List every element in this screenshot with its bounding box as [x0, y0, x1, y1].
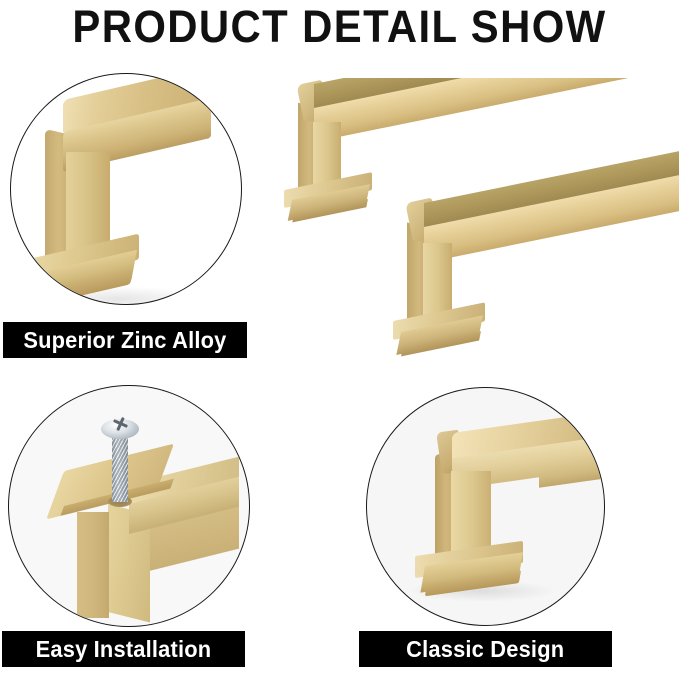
panel-product-pair-image: [276, 78, 679, 378]
panel-classic-design-image: [366, 387, 605, 626]
screw-shaft-icon: [112, 434, 128, 502]
caption-banner-classic-design: Classic Design: [359, 631, 612, 667]
caption-banner-superior-zinc-alloy: Superior Zinc Alloy: [3, 322, 247, 358]
caption-text-zinc: Superior Zinc Alloy: [23, 327, 226, 354]
zinc-alloy-handle-illustration: [11, 74, 241, 304]
page-title: PRODUCT DETAIL SHOW: [24, 0, 655, 56]
upper-pull-notch: [341, 131, 385, 160]
easy-installation-illustration: [9, 386, 249, 626]
product-detail-infographic: PRODUCT DETAIL SHOW Superior Zinc Alloy: [0, 0, 679, 675]
caption-banner-easy-installation: Easy Installation: [2, 631, 245, 667]
panel-easy-installation-image: [8, 385, 250, 627]
caption-text-install: Easy Installation: [36, 636, 212, 663]
handle-leg-front-face-install: [77, 512, 109, 618]
caption-text-classic: Classic Design: [406, 636, 564, 663]
panel-superior-zinc-alloy-image: [10, 73, 242, 305]
handle-inner-notch: [110, 154, 162, 190]
classic-design-illustration: [367, 388, 604, 625]
lower-pull-notch: [452, 252, 498, 283]
